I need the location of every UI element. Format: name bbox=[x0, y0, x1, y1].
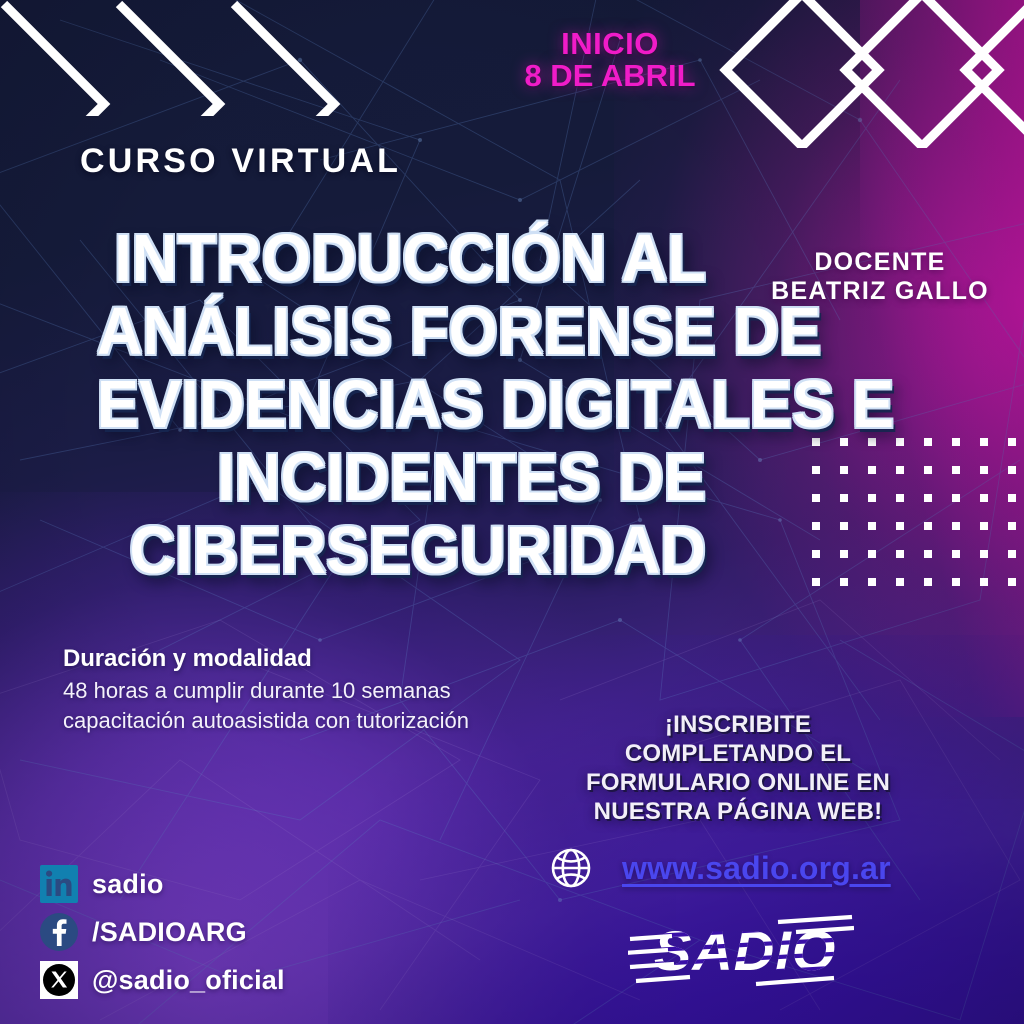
social-item-facebook[interactable]: /SADIOARG bbox=[40, 910, 285, 954]
course-title: INTRODUCCIÓN AL ANÁLISIS FORENSE DE EVID… bbox=[97, 222, 706, 587]
start-date-block: INICIO 8 DE ABRIL bbox=[450, 28, 770, 92]
call-to-action-block: ¡INSCRIBITE COMPLETANDO EL FORMULARIO ON… bbox=[578, 710, 898, 826]
poster-root: INICIO 8 DE ABRIL CURSO VIRTUAL INTRODUC… bbox=[0, 0, 1024, 1024]
social-handle-x: @sadio_oficial bbox=[92, 965, 285, 996]
linkedin-icon[interactable] bbox=[40, 865, 78, 903]
course-title-line-2: ANÁLISIS FORENSE DE bbox=[97, 295, 706, 368]
globe-icon bbox=[548, 845, 594, 891]
sadio-logo: SADIO SADIO bbox=[628, 908, 854, 996]
social-links: sadio /SADIOARG @sadio_oficial bbox=[40, 862, 285, 1006]
x-twitter-icon[interactable] bbox=[40, 961, 78, 999]
website-row[interactable]: www.sadio.org.ar bbox=[548, 845, 891, 891]
facebook-icon[interactable] bbox=[40, 913, 78, 951]
course-kicker: CURSO VIRTUAL bbox=[80, 142, 401, 181]
social-handle-facebook: /SADIOARG bbox=[92, 917, 247, 948]
duration-heading: Duración y modalidad bbox=[63, 645, 583, 673]
start-date-value: 8 DE ABRIL bbox=[450, 60, 770, 92]
social-item-linkedin[interactable]: sadio bbox=[40, 862, 285, 906]
dot-grid-decoration-icon bbox=[804, 432, 1020, 592]
course-title-line-3: EVIDENCIAS DIGITALES E bbox=[97, 368, 706, 441]
cta-line-2: COMPLETANDO EL bbox=[578, 739, 898, 768]
cta-line-1: ¡INSCRIBITE bbox=[578, 710, 898, 739]
course-title-line-5: CIBERSEGURIDAD bbox=[97, 514, 706, 587]
duration-line-1: 48 horas a cumplir durante 10 semanas bbox=[63, 676, 583, 706]
course-title-line-4: INCIDENTES DE bbox=[97, 441, 706, 514]
duration-block: Duración y modalidad 48 horas a cumplir … bbox=[63, 645, 583, 736]
instructor-label: DOCENTE bbox=[744, 248, 1016, 277]
cta-line-4: NUESTRA PÁGINA WEB! bbox=[578, 797, 898, 826]
course-title-line-1: INTRODUCCIÓN AL bbox=[97, 222, 706, 295]
social-item-x[interactable]: @sadio_oficial bbox=[40, 958, 285, 1002]
website-url-link[interactable]: www.sadio.org.ar bbox=[622, 850, 891, 887]
instructor-block: DOCENTE BEATRIZ GALLO bbox=[744, 248, 1016, 305]
start-date-label: INICIO bbox=[450, 28, 770, 60]
cta-line-3: FORMULARIO ONLINE EN bbox=[578, 768, 898, 797]
duration-line-2: capacitación autoasistida con tutorizaci… bbox=[63, 706, 583, 736]
instructor-name: BEATRIZ GALLO bbox=[744, 277, 1016, 306]
chevron-decoration-icon bbox=[0, 0, 344, 116]
social-handle-linkedin: sadio bbox=[92, 869, 164, 900]
